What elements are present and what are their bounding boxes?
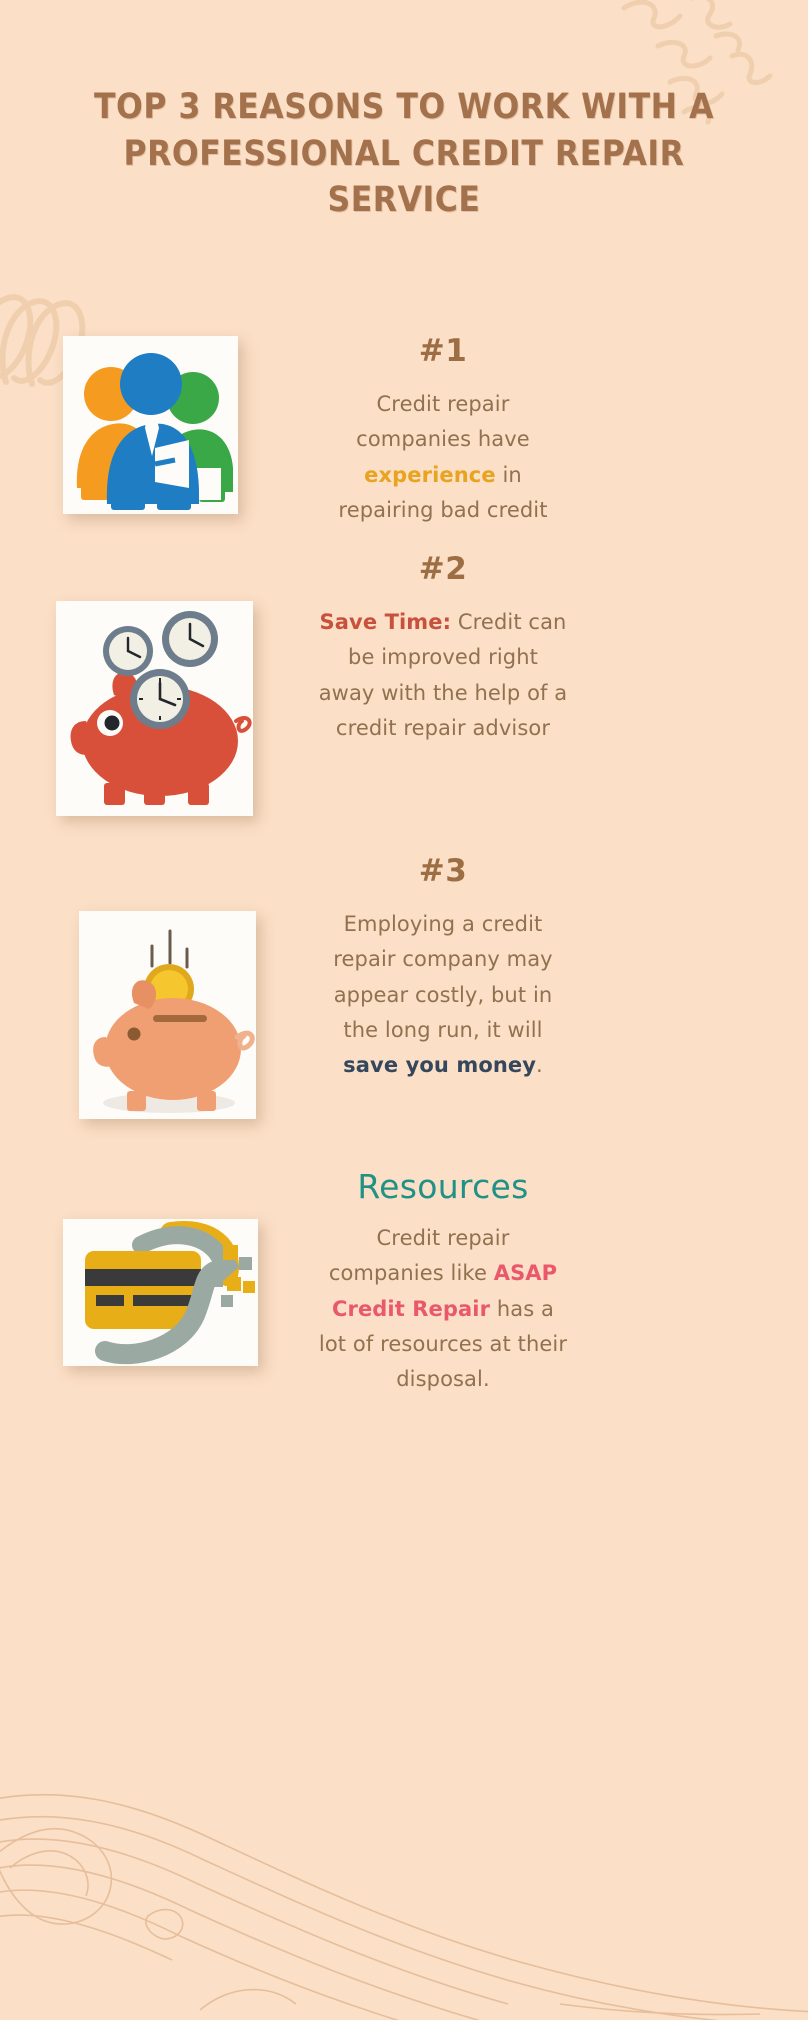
reason-2-text: Save Time: Credit can be improved right … — [318, 605, 568, 746]
reason-3-text: Employing a credit repair company may ap… — [318, 907, 568, 1083]
reason-1-text: Credit repair companies have experience … — [318, 387, 568, 528]
resources-text: Credit repair companies like ASAP Credit… — [318, 1221, 568, 1397]
topographic-contour-lines-bottom-icon — [0, 1760, 808, 2020]
reason-3-copy: #3 Employing a credit repair company may… — [318, 856, 568, 1083]
piggy-bank-with-clocks-icon — [56, 601, 253, 816]
resources-highlight: ASAP Credit Repair — [332, 1261, 557, 1320]
reason-2-number: #2 — [318, 554, 568, 585]
reason-1-number: #1 — [318, 336, 568, 367]
resources-heading: Resources — [318, 1170, 568, 1203]
credit-card-with-wrench-icon — [63, 1219, 258, 1366]
reason-1-copy: #1 Credit repair companies have experien… — [318, 336, 568, 528]
infographic-poster: TOP 3 REASONS TO WORK WITH A PROFESSIONA… — [0, 0, 808, 2020]
reason-1-highlight: experience — [364, 463, 496, 487]
piggy-bank-with-coin-icon — [79, 911, 256, 1119]
reason-3-number: #3 — [318, 856, 568, 887]
page-title: TOP 3 REASONS TO WORK WITH A PROFESSIONA… — [89, 84, 719, 224]
reason-3-highlight: save you money — [343, 1053, 536, 1077]
reason-2-highlight: Save Time: — [320, 610, 452, 634]
reason-2-copy: #2 Save Time: Credit can be improved rig… — [318, 554, 568, 746]
resources-copy: Resources Credit repair companies like A… — [318, 1170, 568, 1397]
three-people-team-icon — [63, 336, 238, 514]
